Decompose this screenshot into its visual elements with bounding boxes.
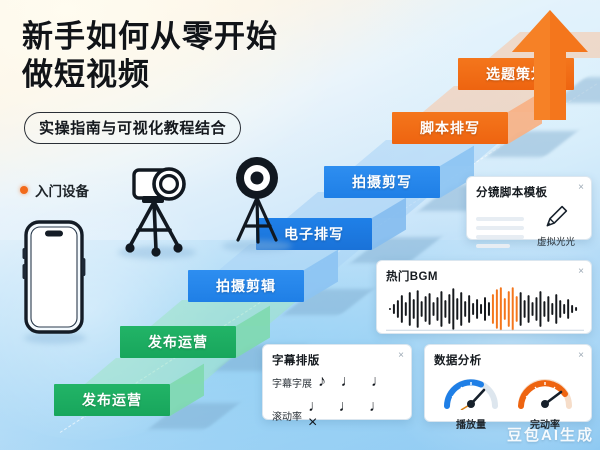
poster-canvas: 新手如何从零开始 做短视频 实操指南与可视化教程结合 入门设备 发布运营 发布运… [0, 0, 600, 450]
card-analytics[interactable]: × 数据分析 播放量 [424, 344, 592, 422]
skeleton-line [476, 235, 524, 239]
step-2[interactable]: 发布运营 [120, 326, 236, 358]
page-title: 新手如何从零开始 做短视频 [22, 18, 442, 94]
step-label: 发布运营 [120, 326, 236, 358]
subtitle-pill: 实操指南与可视化教程结合 [24, 112, 241, 144]
skeleton-line [476, 217, 524, 221]
title-line-2: 做短视频 [22, 56, 442, 94]
music-notes-icon: ♪ ♩ ♩ [318, 374, 392, 390]
step-6[interactable]: 脚本排写 [392, 112, 508, 144]
card-hot-bgm[interactable]: × 热门BGM [376, 260, 592, 334]
close-icon[interactable]: × [578, 351, 584, 361]
gauge-plays: 播放量 [440, 370, 502, 431]
step-label: 拍摄剪写 [324, 166, 440, 198]
card-row-label: 滚动率 [272, 408, 302, 423]
ring-light-tripod-icon [218, 152, 296, 250]
step-label: 发布运营 [54, 384, 170, 416]
legend-entry-devices: 入门设备 [20, 180, 89, 200]
step-5[interactable]: 拍摄剪写 [324, 166, 440, 198]
card-title: 分镜脚本模板 [476, 184, 582, 200]
gauge-icon [514, 370, 576, 410]
step-label: 脚本排写 [392, 112, 508, 144]
close-icon[interactable]: × [578, 267, 584, 277]
card-title: 热门BGM [386, 268, 582, 284]
card-storyboard-template[interactable]: × 分镜脚本模板 虚拟光光 [466, 176, 592, 240]
step-3[interactable]: 拍摄剪辑 [188, 270, 304, 302]
legend-dot-icon [20, 186, 28, 194]
smartphone-icon [18, 218, 90, 336]
legend-label: 入门设备 [35, 180, 89, 200]
close-icon[interactable]: × [398, 351, 404, 361]
bgm-waveform [386, 286, 584, 332]
step-label: 拍摄剪辑 [188, 270, 304, 302]
growth-arrow-icon [498, 8, 588, 120]
card-caption: 虚拟光光 [530, 234, 582, 248]
gauge-icon [440, 370, 502, 410]
card-row-label: 字幕字展 [272, 375, 312, 390]
title-line-1: 新手如何从零开始 [22, 18, 442, 56]
camera-tripod-icon [112, 158, 196, 258]
gauge-label: 播放量 [440, 416, 502, 431]
gauge-completion: 完动率 [514, 370, 576, 431]
music-notes-icon: ♩ ♩ ♩ × [308, 399, 402, 431]
card-title: 数据分析 [434, 352, 582, 368]
step-1[interactable]: 发布运营 [54, 384, 170, 416]
card-title: 字幕排版 [272, 352, 402, 368]
skeleton-line [476, 244, 510, 248]
watermark: 豆包AI生成 [507, 424, 594, 445]
skeleton-line [476, 226, 524, 230]
close-icon[interactable]: × [578, 183, 584, 193]
pencil-icon [543, 204, 569, 230]
card-subtitle-layout[interactable]: × 字幕排版 字幕字展 ♪ ♩ ♩ 滚动率 ♩ ♩ ♩ × [262, 344, 412, 420]
